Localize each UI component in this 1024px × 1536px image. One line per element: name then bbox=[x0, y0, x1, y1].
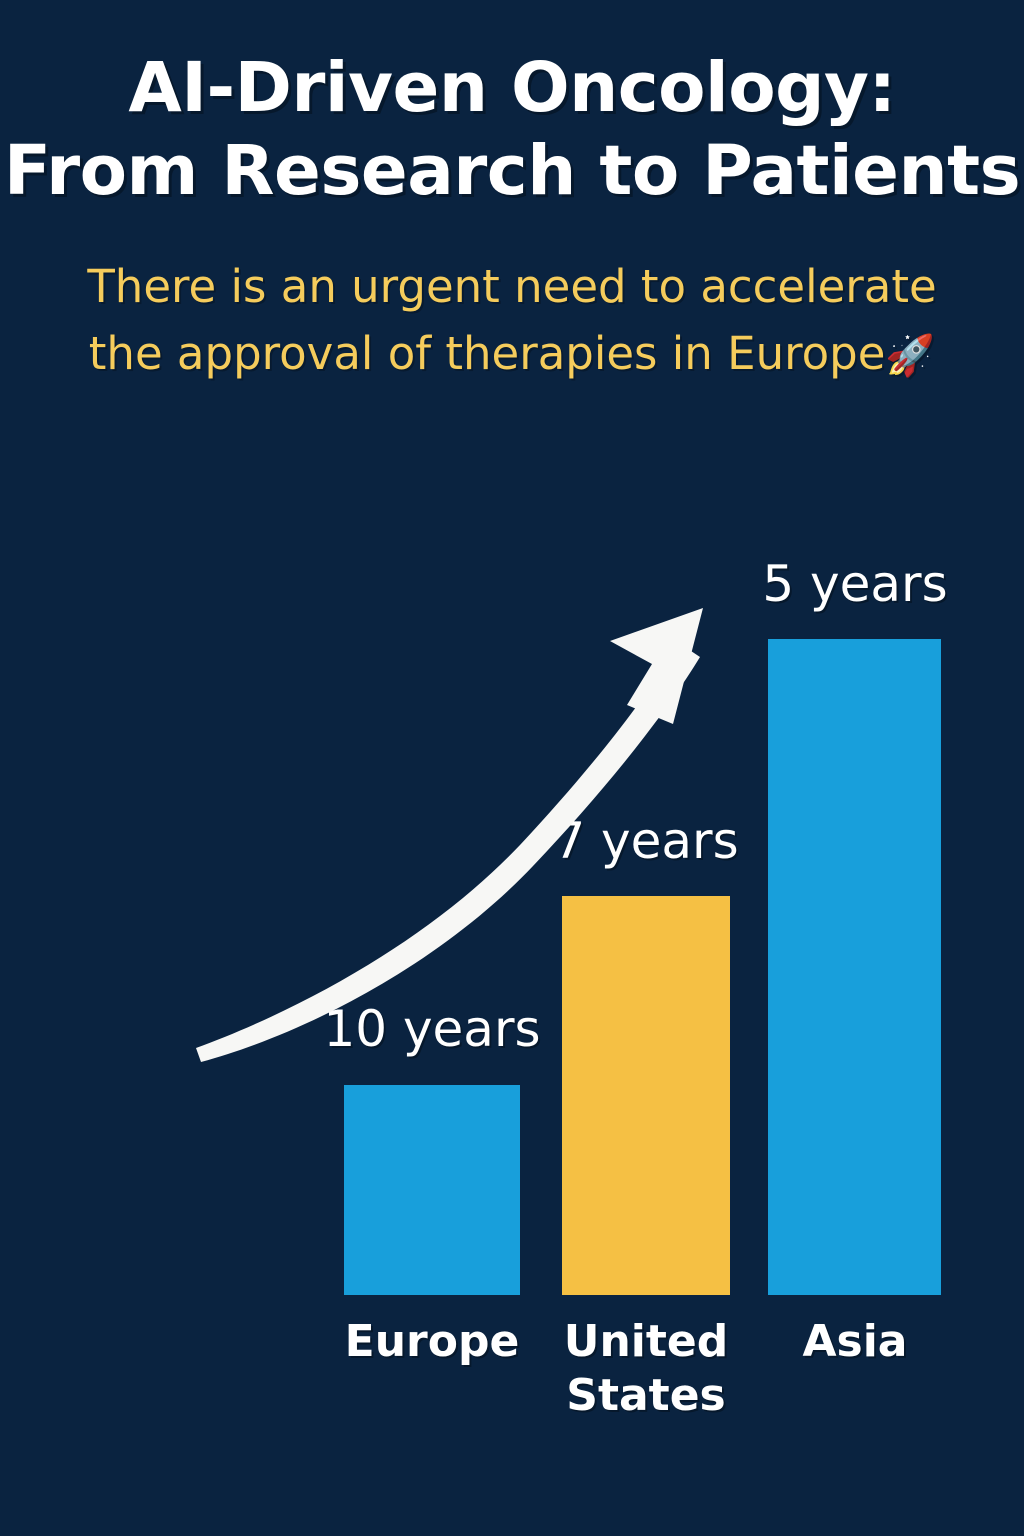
category-label-asia-line-1: Asia bbox=[745, 1315, 965, 1369]
value-label-united-states: 7 years bbox=[536, 812, 756, 870]
value-label-asia: 5 years bbox=[745, 555, 965, 613]
value-label-europe: 10 years bbox=[322, 1000, 542, 1058]
bar-chart: 10 years 7 years 5 years Europe United S… bbox=[0, 0, 1024, 1536]
category-label-united-states-line-2: States bbox=[536, 1369, 756, 1423]
category-label-europe-line-1: Europe bbox=[322, 1315, 542, 1369]
category-label-europe: Europe bbox=[322, 1315, 542, 1369]
bar-united-states[interactable] bbox=[562, 896, 730, 1295]
category-label-united-states: United States bbox=[536, 1315, 756, 1422]
bar-europe[interactable] bbox=[344, 1085, 520, 1295]
category-label-asia: Asia bbox=[745, 1315, 965, 1369]
bar-asia[interactable] bbox=[768, 639, 941, 1295]
category-label-united-states-line-1: United bbox=[536, 1315, 756, 1369]
infographic-poster: AI-Driven Oncology: From Research to Pat… bbox=[0, 0, 1024, 1536]
